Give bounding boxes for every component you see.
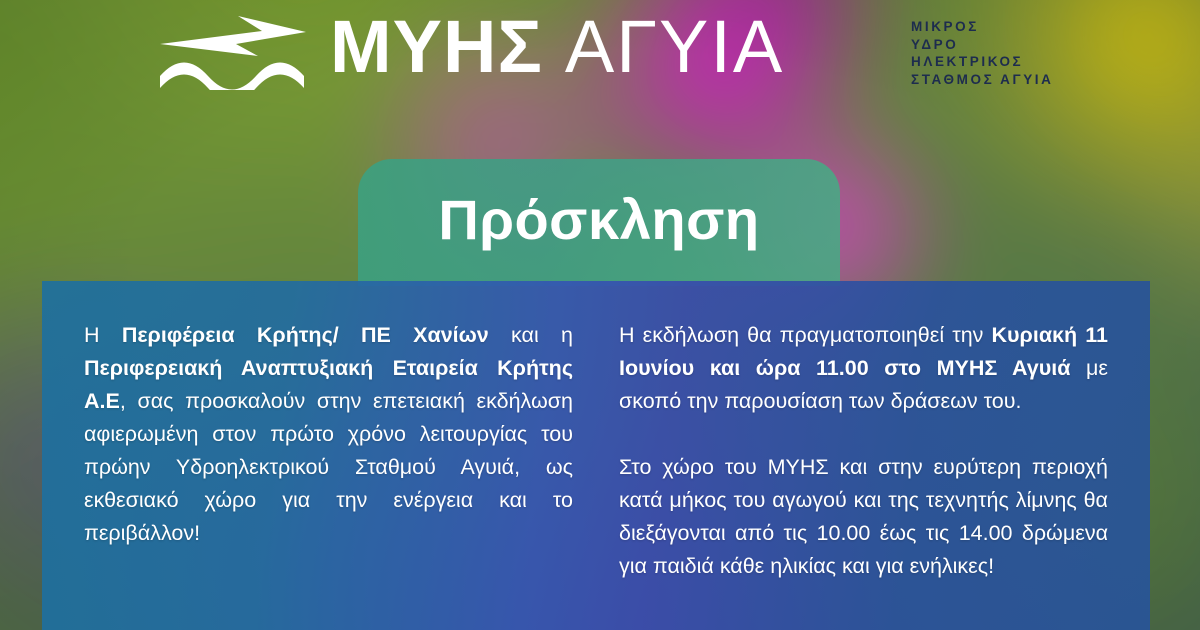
body-text: , σας προσκαλούν στην επετειακή εκδήλωση… xyxy=(84,389,573,545)
tagline-line-1: ΜΙΚΡΟΣ xyxy=(911,18,1054,36)
logo-wordmark: ΜΥΗΣ ΑΓΥΙΑ xyxy=(330,6,784,89)
emphasis-text: Περιφέρεια Κρήτης/ ΠΕ Χανίων xyxy=(122,323,489,347)
paragraph: Στο χώρο του ΜΥΗΣ και στην ευρύτερη περι… xyxy=(619,451,1108,583)
poster-canvas: ΜΥΗΣ ΑΓΥΙΑ ΜΙΚΡΟΣ ΥΔΡΟ ΗΛΕΚΤΡΙΚΟΣ ΣΤΑΘΜΟ… xyxy=(0,0,1200,630)
header: ΜΥΗΣ ΑΓΥΙΑ ΜΙΚΡΟΣ ΥΔΡΟ ΗΛΕΚΤΡΙΚΟΣ ΣΤΑΘΜΟ… xyxy=(0,0,1200,112)
lightning-over-waves-icon xyxy=(158,14,308,90)
content-column-left: Η Περιφέρεια Κρήτης/ ΠΕ Χανίων και η Περ… xyxy=(84,319,573,620)
title-panel: Πρόσκληση xyxy=(358,159,840,286)
tagline-line-3: ΗΛΕΚΤΡΙΚΟΣ xyxy=(911,53,1054,71)
body-text: Η εκδήλωση θα πραγματοποιηθεί την xyxy=(619,323,992,347)
paragraph: Η Περιφέρεια Κρήτης/ ΠΕ Χανίων και η Περ… xyxy=(84,319,573,550)
tagline-line-2: ΥΔΡΟ xyxy=(911,36,1054,54)
page-title: Πρόσκληση xyxy=(438,192,759,254)
paragraph: Η εκδήλωση θα πραγματοποιηθεί την Κυριακ… xyxy=(619,319,1108,418)
body-text: και η xyxy=(489,323,573,347)
content-panel: Η Περιφέρεια Κρήτης/ ΠΕ Χανίων και η Περ… xyxy=(42,281,1150,630)
wordmark-myis: ΜΥΗΣ xyxy=(330,6,543,89)
wordmark-agyia: ΑΓΥΙΑ xyxy=(565,6,784,89)
logo-tagline: ΜΙΚΡΟΣ ΥΔΡΟ ΗΛΕΚΤΡΙΚΟΣ ΣΤΑΘΜΟΣ ΑΓΥΙΑ xyxy=(911,18,1054,88)
content-column-right: Η εκδήλωση θα πραγματοποιηθεί την Κυριακ… xyxy=(619,319,1108,620)
tagline-line-4: ΣΤΑΘΜΟΣ ΑΓΥΙΑ xyxy=(911,71,1054,89)
body-text: Η xyxy=(84,323,122,347)
body-text: Στο χώρο του ΜΥΗΣ και στην ευρύτερη περι… xyxy=(619,455,1108,578)
